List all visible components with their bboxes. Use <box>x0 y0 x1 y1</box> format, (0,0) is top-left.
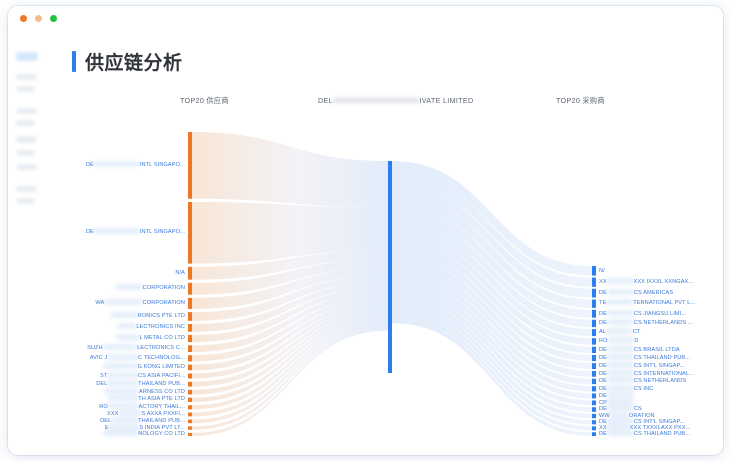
buyer-label-3[interactable]: TEXXXXXXXTERNATIONAL PVT L... <box>599 300 695 306</box>
supplier-label-12[interactable]: DELXXXXXXXXTHAILAND PUB... <box>96 381 185 387</box>
buyer-label-1[interactable]: XXXXXXXXXXXX IXXXL XXNGAX... <box>599 279 693 285</box>
sankey-node-buyer-3[interactable] <box>592 300 596 308</box>
supplier-label-18[interactable]: EXXXXXXXXS INDIA PVT LT... <box>105 425 185 431</box>
label-suffix: S AXXA PXXFI... <box>142 411 185 417</box>
sidebar-item-6[interactable] <box>16 150 35 156</box>
label-prefix: DE <box>599 386 607 392</box>
label-redacted: XXXXXXX <box>607 347 634 353</box>
sankey-diagram: DEXXXXXXXXXXXXINTL SINGAPO...DEXXXXXXXXX… <box>46 84 723 444</box>
sankey-node-supplier-12[interactable] <box>188 382 192 387</box>
sidebar-item-4[interactable] <box>16 120 35 126</box>
sankey-node-supplier-3[interactable] <box>188 283 192 295</box>
label-prefix: XX <box>599 279 607 285</box>
sankey-node-buyer-13[interactable] <box>592 386 596 391</box>
sankey-node-buyer-14[interactable] <box>592 393 596 398</box>
sankey-node-buyer-7[interactable] <box>592 338 596 345</box>
label-redacted: XXXXX <box>117 324 136 330</box>
label-suffix: CS JIANGSU LIMI... <box>634 311 686 317</box>
sankey-node-buyer-4[interactable] <box>592 310 596 318</box>
label-prefix: TE <box>599 300 606 306</box>
sankey-node-buyer-5[interactable] <box>592 320 596 327</box>
sidebar-item-0[interactable] <box>16 52 38 61</box>
label-suffix: LECTRONICS C... <box>137 345 185 351</box>
minimize-window-button[interactable] <box>35 15 42 22</box>
sankey-node-supplier-6[interactable] <box>188 324 192 332</box>
supplier-label-2[interactable]: N/A <box>175 270 185 276</box>
sankey-node-buyer-9[interactable] <box>592 355 596 361</box>
label-suffix: TH ASIA PTE LTD <box>138 396 185 402</box>
label-prefix: DE <box>599 355 607 361</box>
window-titlebar <box>8 6 723 28</box>
buyer-label-7[interactable]: ROXXXXXXXD <box>599 338 639 344</box>
supplier-label-5[interactable]: XXXXXXXRONICS PTE LTD <box>111 313 185 319</box>
sidebar-item-5[interactable] <box>16 136 37 143</box>
label-suffix: G KONG LIMITED <box>138 364 185 370</box>
label-prefix: DE <box>599 290 607 296</box>
label-redacted: XXXXXXX <box>607 400 634 406</box>
label-suffix: L METAL CO LTD <box>139 335 185 341</box>
close-window-button[interactable] <box>20 15 27 22</box>
sankey-nodes-suppliers <box>188 132 192 436</box>
label-suffix: ACTORY THAIL... <box>139 404 185 410</box>
label-suffix: CORPORATION <box>143 300 185 306</box>
label-suffix: LECTRONICS INC <box>136 324 185 330</box>
label-redacted: XXXXXXX <box>607 355 634 361</box>
label-prefix: WW <box>599 413 610 419</box>
buyer-label-8[interactable]: DEXXXXXXXCS BRASIL LTDA <box>599 347 680 353</box>
supplier-label-17[interactable]: DELXXXXXXXTHAILAND PUB... <box>100 418 185 424</box>
label-prefix: AL <box>599 329 606 335</box>
label-suffix: C TECHNOLOG... <box>138 355 185 361</box>
label-redacted: XXXXXXX <box>607 279 634 285</box>
label-redacted: XXXXXXXXX <box>104 431 138 437</box>
page-title-row: 供应链分析 <box>72 48 183 75</box>
label-prefix: DE <box>599 406 607 412</box>
label-suffix: S INDIA PVT LT... <box>139 425 185 431</box>
label-redacted: XXXXXXXXXXXX <box>94 162 140 168</box>
page-title: 供应链分析 <box>85 48 183 75</box>
sidebar-item-9[interactable] <box>16 198 35 204</box>
label-suffix: CS THAILAND PUB... <box>634 355 690 361</box>
label-prefix: ST <box>100 373 107 379</box>
label-prefix: DEL <box>96 381 107 387</box>
supplier-label-3[interactable]: XXXXXXXCORPORATION <box>116 285 185 291</box>
maximize-window-button[interactable] <box>50 15 57 22</box>
label-suffix: NOLOGY CO LTD <box>138 431 185 437</box>
sankey-node-buyer-16[interactable] <box>592 407 596 412</box>
label-prefix: DE <box>599 347 607 353</box>
supplier-label-9[interactable]: AVIC JXXXXXXXXC TECHNOLOG... <box>90 355 185 361</box>
sankey-links-suppliers <box>192 132 388 436</box>
sankey-node-supplier-5[interactable] <box>188 312 192 321</box>
sidebar-item-2[interactable] <box>16 86 35 92</box>
buyer-label-11[interactable]: DEXXXXXXXCS INTERNATIONAL... <box>599 371 694 377</box>
label-suffix: CS <box>634 406 642 412</box>
buyer-label-14[interactable]: DEXXXXXXX <box>599 393 634 399</box>
label-redacted: XXXXXXXXXXXX <box>94 229 140 235</box>
label-redacted: XXXXXXXX <box>108 396 139 402</box>
sankey-node-buyer-18[interactable] <box>592 420 596 424</box>
sankey-node-buyer-11[interactable] <box>592 371 596 377</box>
sankey-node-supplier-7[interactable] <box>188 335 192 342</box>
label-redacted: XXXXXXX <box>606 329 633 335</box>
label-prefix: RO <box>599 338 608 344</box>
label-redacted: XXXXXXXX <box>107 373 138 379</box>
sankey-node-buyer-2[interactable] <box>592 289 596 298</box>
label-prefix: DEL <box>100 418 111 424</box>
label-redacted: XXXXXXX <box>607 371 634 377</box>
sidebar-item-8[interactable] <box>16 186 37 192</box>
label-redacted: XXXXXXXXX <box>103 345 137 351</box>
label-redacted: XXXXXXX <box>116 285 143 291</box>
supplier-label-13[interactable]: XXXXXXXXXARNESS CO LTD <box>105 389 185 395</box>
label-suffix: CS BRASIL LTDA <box>634 347 680 353</box>
sankey-node-supplier-18[interactable] <box>188 426 192 429</box>
sankey-node-buyer-0[interactable] <box>592 266 596 276</box>
buyer-label-16[interactable]: DEXXXXXXXCS <box>599 406 642 412</box>
label-suffix: CS NETHERLANDS ... <box>634 320 693 326</box>
buyer-label-0[interactable]: N/ <box>599 268 605 274</box>
label-suffix: CS NETHERLANDS <box>634 378 686 384</box>
label-prefix: CP <box>599 400 607 406</box>
label-suffix: TERNATIONAL PVT L... <box>633 300 695 306</box>
sidebar-item-1[interactable] <box>16 74 37 80</box>
label-prefix: N/ <box>599 268 605 274</box>
buyer-label-10[interactable]: DEXXXXXXXCS INT'L SINGAP... <box>599 363 685 369</box>
sankey-node-supplier-15[interactable] <box>188 405 192 409</box>
label-suffix: RONICS PTE LTD <box>138 313 185 319</box>
label-redacted: XXXXXXX <box>607 290 634 296</box>
label-suffix: INTL SINGAPO... <box>140 229 185 235</box>
buyer-label-13[interactable]: DEXXXXXXXCS INC <box>599 386 653 392</box>
label-suffix: XXX IXXXL XXNGAX... <box>634 279 694 285</box>
label-prefix: DE <box>599 311 607 317</box>
label-suffix: INTL SINGAPO... <box>140 162 185 168</box>
supplier-label-11[interactable]: STXXXXXXXXCS ASIA PACIFI... <box>100 373 185 379</box>
sankey-node-buyer-8[interactable] <box>592 347 596 353</box>
label-redacted: XXXXXXXX <box>108 404 139 410</box>
label-suffix: THAILAND PUB... <box>138 418 185 424</box>
label-prefix: DE <box>599 393 607 399</box>
label-suffix: CORPORATION <box>143 285 185 291</box>
buyer-label-9[interactable]: DEXXXXXXXCS THAILAND PUB... <box>599 355 690 361</box>
label-redacted: XXXXXX <box>116 335 139 341</box>
label-redacted: XXXXXXXX <box>107 355 138 361</box>
buyer-label-6[interactable]: ALXXXXXXXCT <box>599 329 641 335</box>
label-redacted: XXXXXXX <box>111 313 138 319</box>
supplier-label-0[interactable]: DEXXXXXXXXXXXXINTL SINGAPO... <box>86 162 185 168</box>
label-redacted: XXXXXXX <box>607 311 634 317</box>
sankey-node-supplier-11[interactable] <box>188 373 192 378</box>
label-prefix: SUZH <box>87 345 103 351</box>
label-suffix: THAILAND PUB... <box>138 381 185 387</box>
label-redacted: XXXXXXX <box>607 320 634 326</box>
label-redacted: XXXXXXX <box>607 406 634 412</box>
label-redacted: XXXXXX <box>119 411 142 417</box>
label-redacted: XXXXXXX <box>608 338 635 344</box>
sankey-node-supplier-2[interactable] <box>188 267 192 280</box>
label-suffix: CS INT'L SINGAP... <box>634 363 685 369</box>
sidebar-item-3[interactable] <box>16 108 37 114</box>
label-suffix: D <box>634 338 638 344</box>
buyer-label-4[interactable]: DEXXXXXXXCS JIANGSU LIMI... <box>599 311 686 317</box>
label-prefix: DE <box>599 320 607 326</box>
label-redacted: XXXXXXXXX <box>105 389 139 395</box>
sankey-node-supplier-8[interactable] <box>188 345 192 352</box>
sidebar-item-7[interactable] <box>16 164 37 170</box>
main-content: 供应链分析 TOP20 供应商 DELXXXXXXXXXXXXXXXXXIVAT… <box>46 28 723 455</box>
label-redacted: XXXXXXX <box>607 431 634 437</box>
label-redacted: XXXXXXX <box>607 386 634 392</box>
sankey-node-supplier-14[interactable] <box>188 398 192 402</box>
supplier-label-7[interactable]: XXXXXXL METAL CO LTD <box>116 335 185 341</box>
label-prefix: DE <box>86 229 94 235</box>
buyer-label-15[interactable]: CPXXXXXXX <box>599 400 634 406</box>
buyer-label-5[interactable]: DEXXXXXXXCS NETHERLANDS ... <box>599 320 693 326</box>
sankey-node-supplier-9[interactable] <box>188 355 192 361</box>
sidebar <box>8 28 46 455</box>
buyer-label-17[interactable]: WWXXXXXORATION <box>599 413 655 419</box>
label-suffix: N/A <box>175 270 185 276</box>
label-redacted: XXXXX <box>610 413 629 419</box>
supplier-label-15[interactable]: ROXXXXXXXXACTORY THAIL... <box>99 404 185 410</box>
label-redacted: XXXXXXXXX <box>103 364 137 370</box>
sankey-link-supplier-0 <box>192 132 388 208</box>
sankey-node-center-rect[interactable] <box>388 161 392 373</box>
buyer-label-2[interactable]: DEXXXXXXXCS AMERICAS <box>599 290 673 296</box>
supplier-label-19[interactable]: XXXXXXXXXNOLOGY CO LTD <box>104 431 185 437</box>
app-window: 供应链分析 TOP20 供应商 DELXXXXXXXXXXXXXXXXXIVAT… <box>8 6 723 455</box>
label-prefix: DE <box>599 371 607 377</box>
label-redacted: XXXXXXX <box>111 418 138 424</box>
label-suffix: CT <box>633 329 641 335</box>
sankey-node-supplier-10[interactable] <box>188 365 192 371</box>
sankey-node-buyer-1[interactable] <box>592 278 596 287</box>
sankey-node-buyer-6[interactable] <box>592 329 596 336</box>
sankey-links-buyers <box>392 161 592 436</box>
supplier-label-14[interactable]: XXXXXXXXTH ASIA PTE LTD <box>108 396 185 402</box>
label-prefix: DE <box>599 431 607 437</box>
label-redacted: XXXXXXXXXX <box>104 300 142 306</box>
sankey-node-supplier-1[interactable] <box>188 202 192 264</box>
label-suffix: CS INC <box>634 386 654 392</box>
sankey-node-supplier-19[interactable] <box>188 433 192 436</box>
sankey-node-buyer-10[interactable] <box>592 363 596 369</box>
sankey-node-buyer-17[interactable] <box>592 414 596 418</box>
label-redacted: XXXXXXX <box>607 378 634 384</box>
sankey-node-supplier-4[interactable] <box>188 298 192 309</box>
sankey-node-buyer-20[interactable] <box>592 432 596 436</box>
label-redacted: XXXXXXXX <box>107 381 138 387</box>
buyer-label-20[interactable]: DEXXXXXXXCS THAILAND PUB... <box>599 431 690 437</box>
sankey-node-buyer-19[interactable] <box>592 426 596 430</box>
buyer-label-12[interactable]: DEXXXXXXXCS NETHERLANDS <box>599 378 686 384</box>
label-suffix: ORATION <box>629 413 655 419</box>
supplier-label-6[interactable]: XXXXXLECTRONICS INC <box>117 324 185 330</box>
label-suffix: CS INTERNATIONAL... <box>634 371 694 377</box>
label-prefix: DE <box>86 162 94 168</box>
title-accent-bar <box>72 51 76 72</box>
supplier-label-10[interactable]: XXXXXXXXXG KONG LIMITED <box>103 364 185 370</box>
sankey-node-supplier-16[interactable] <box>188 413 192 417</box>
label-prefix: DE <box>599 378 607 384</box>
sankey-nodes-buyers <box>592 266 596 436</box>
label-prefix: RO <box>99 404 108 410</box>
label-redacted: XXXXXXX <box>606 300 633 306</box>
supplier-label-4[interactable]: WAXXXXXXXXXXCORPORATION <box>95 300 185 306</box>
label-redacted: XXXXXXX <box>607 363 634 369</box>
label-prefix: WA <box>95 300 104 306</box>
sankey-node-buyer-15[interactable] <box>592 400 596 405</box>
label-redacted: XXXXXXX <box>607 393 634 399</box>
label-suffix: CS THAILAND PUB... <box>634 431 690 437</box>
sankey-node-center <box>388 161 392 373</box>
sankey-node-supplier-17[interactable] <box>188 420 192 424</box>
supplier-label-16[interactable]: XXXXXXXXXS AXXA PXXFI... <box>107 411 185 417</box>
label-prefix: XXX <box>107 411 119 417</box>
label-prefix: AVIC J <box>90 355 108 361</box>
supplier-label-1[interactable]: DEXXXXXXXXXXXXINTL SINGAPO... <box>86 229 185 235</box>
label-suffix: CS ASIA PACIFI... <box>138 373 185 379</box>
sankey-node-buyer-12[interactable] <box>592 379 596 384</box>
label-suffix: ARNESS CO LTD <box>139 389 185 395</box>
label-prefix: DE <box>599 363 607 369</box>
supplier-label-8[interactable]: SUZHXXXXXXXXXLECTRONICS C... <box>87 345 185 351</box>
sankey-node-supplier-13[interactable] <box>188 390 192 395</box>
sankey-node-supplier-0[interactable] <box>188 132 192 199</box>
label-redacted: XXXXXXXX <box>109 425 140 431</box>
label-suffix: CS AMERICAS <box>634 290 673 296</box>
